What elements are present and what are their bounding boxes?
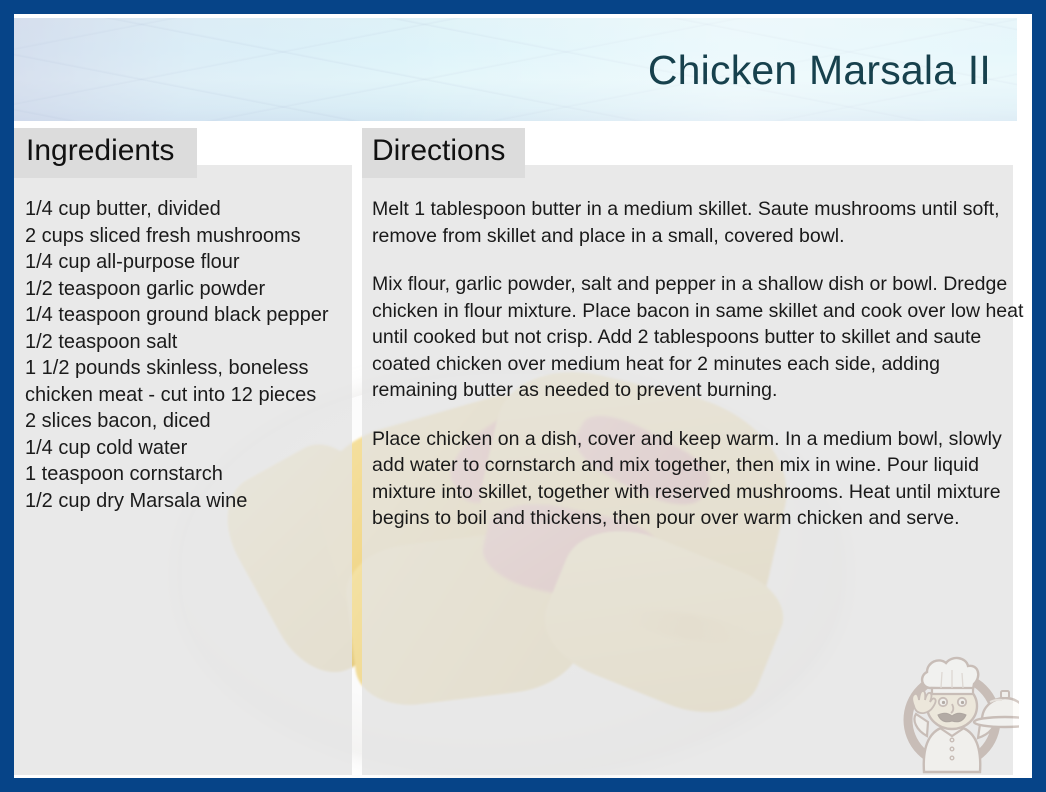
list-item: 1/4 cup all-purpose flour bbox=[25, 249, 355, 276]
list-item: 1/4 cup cold water bbox=[25, 435, 355, 462]
list-item: 1/4 cup butter, divided bbox=[25, 196, 355, 223]
directions-heading: Directions bbox=[372, 134, 505, 168]
list-item: 1 teaspoon cornstarch bbox=[25, 461, 355, 488]
list-item: 1/4 teaspoon ground black pepper bbox=[25, 302, 355, 329]
ingredients-heading: Ingredients bbox=[26, 134, 174, 168]
list-item: 1/2 teaspoon garlic powder bbox=[25, 276, 355, 303]
list-item: 2 slices bacon, diced bbox=[25, 408, 355, 435]
chef-logo-icon bbox=[894, 644, 1019, 774]
directions-paragraph: Melt 1 tablespoon butter in a medium ski… bbox=[372, 196, 1027, 249]
list-item: 2 cups sliced fresh mushrooms bbox=[25, 223, 355, 250]
title-banner: Chicken Marsala II bbox=[14, 18, 1017, 121]
directions-paragraph: Mix flour, garlic powder, salt and peppe… bbox=[372, 271, 1027, 404]
recipe-card: Chicken Marsala II Ingredients 1/4 cup b… bbox=[0, 0, 1046, 792]
recipe-title: Chicken Marsala II bbox=[648, 47, 991, 94]
list-item: 1/2 cup dry Marsala wine bbox=[25, 488, 355, 515]
list-item: 1 1/2 pounds skinless, boneless chicken … bbox=[25, 355, 355, 408]
directions-body: Melt 1 tablespoon butter in a medium ski… bbox=[372, 196, 1027, 554]
ingredients-list: 1/4 cup butter, divided 2 cups sliced fr… bbox=[25, 196, 355, 514]
recipe-page: Chicken Marsala II Ingredients 1/4 cup b… bbox=[14, 14, 1032, 778]
list-item: 1/2 teaspoon salt bbox=[25, 329, 355, 356]
directions-paragraph: Place chicken on a dish, cover and keep … bbox=[372, 426, 1027, 532]
